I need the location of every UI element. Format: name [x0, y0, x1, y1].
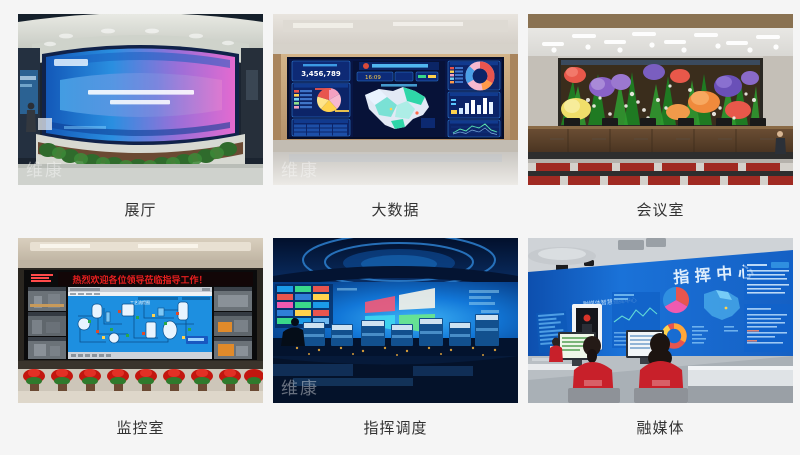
svg-text:3,456,789: 3,456,789	[301, 70, 341, 78]
caption-exhibition-hall: 展厅	[18, 185, 263, 238]
welcome-banner: 热烈欢迎各位领导莅临指导工作！	[28, 272, 253, 286]
scada-window: 工艺流程图	[68, 287, 212, 359]
dashboard-right-column	[448, 61, 500, 137]
dashboard-left-column: 3,456,789	[292, 61, 350, 136]
caption-media-convergence: 融媒体	[528, 403, 793, 455]
exhibition-hall-scene	[18, 14, 263, 185]
banner-text: 热烈欢迎各位领导莅临指导工作！	[72, 274, 207, 286]
svg-text:16:09: 16:09	[365, 75, 381, 81]
gallery-photo-exhibition-hall[interactable]: 维康	[18, 14, 263, 185]
pie-chart	[317, 88, 341, 112]
scenario-gallery: 维康	[0, 0, 800, 455]
media-convergence-scene: 指 挥 中 心 融媒体智慧指挥中心	[528, 238, 793, 403]
gallery-photo-monitoring-room[interactable]: 热烈欢迎各位领导莅临指导工作！	[18, 238, 263, 403]
caption-command-dispatch: 指挥调度	[273, 403, 518, 455]
cctv-right	[214, 287, 252, 359]
caption-big-data: 大数据	[273, 185, 518, 238]
conference-room-scene	[528, 14, 793, 185]
poinsettia-row	[23, 369, 263, 391]
caption-conference-room: 会议室	[528, 185, 793, 238]
dashboard-center-map: 16:09	[353, 61, 445, 137]
big-data-scene: 3,456,789	[273, 14, 518, 185]
gallery-photo-command-dispatch[interactable]: 维康	[273, 238, 518, 403]
pie-chart-wall	[663, 287, 689, 313]
gallery-photo-media-convergence[interactable]: 指 挥 中 心 融媒体智慧指挥中心	[528, 238, 793, 403]
monitoring-room-scene: 热烈欢迎各位领导莅临指导工作！	[18, 238, 263, 403]
desk-front	[688, 366, 793, 403]
wall-right-panels	[744, 260, 793, 352]
gallery-photo-big-data[interactable]: 3,456,789	[273, 14, 518, 185]
wall-left-panels	[275, 284, 333, 328]
caption-monitoring-room: 监控室	[18, 403, 263, 455]
cctv-left	[28, 287, 66, 359]
command-dispatch-scene	[273, 238, 518, 403]
gallery-photo-conference-room[interactable]	[528, 14, 793, 185]
floral-image	[561, 64, 760, 125]
